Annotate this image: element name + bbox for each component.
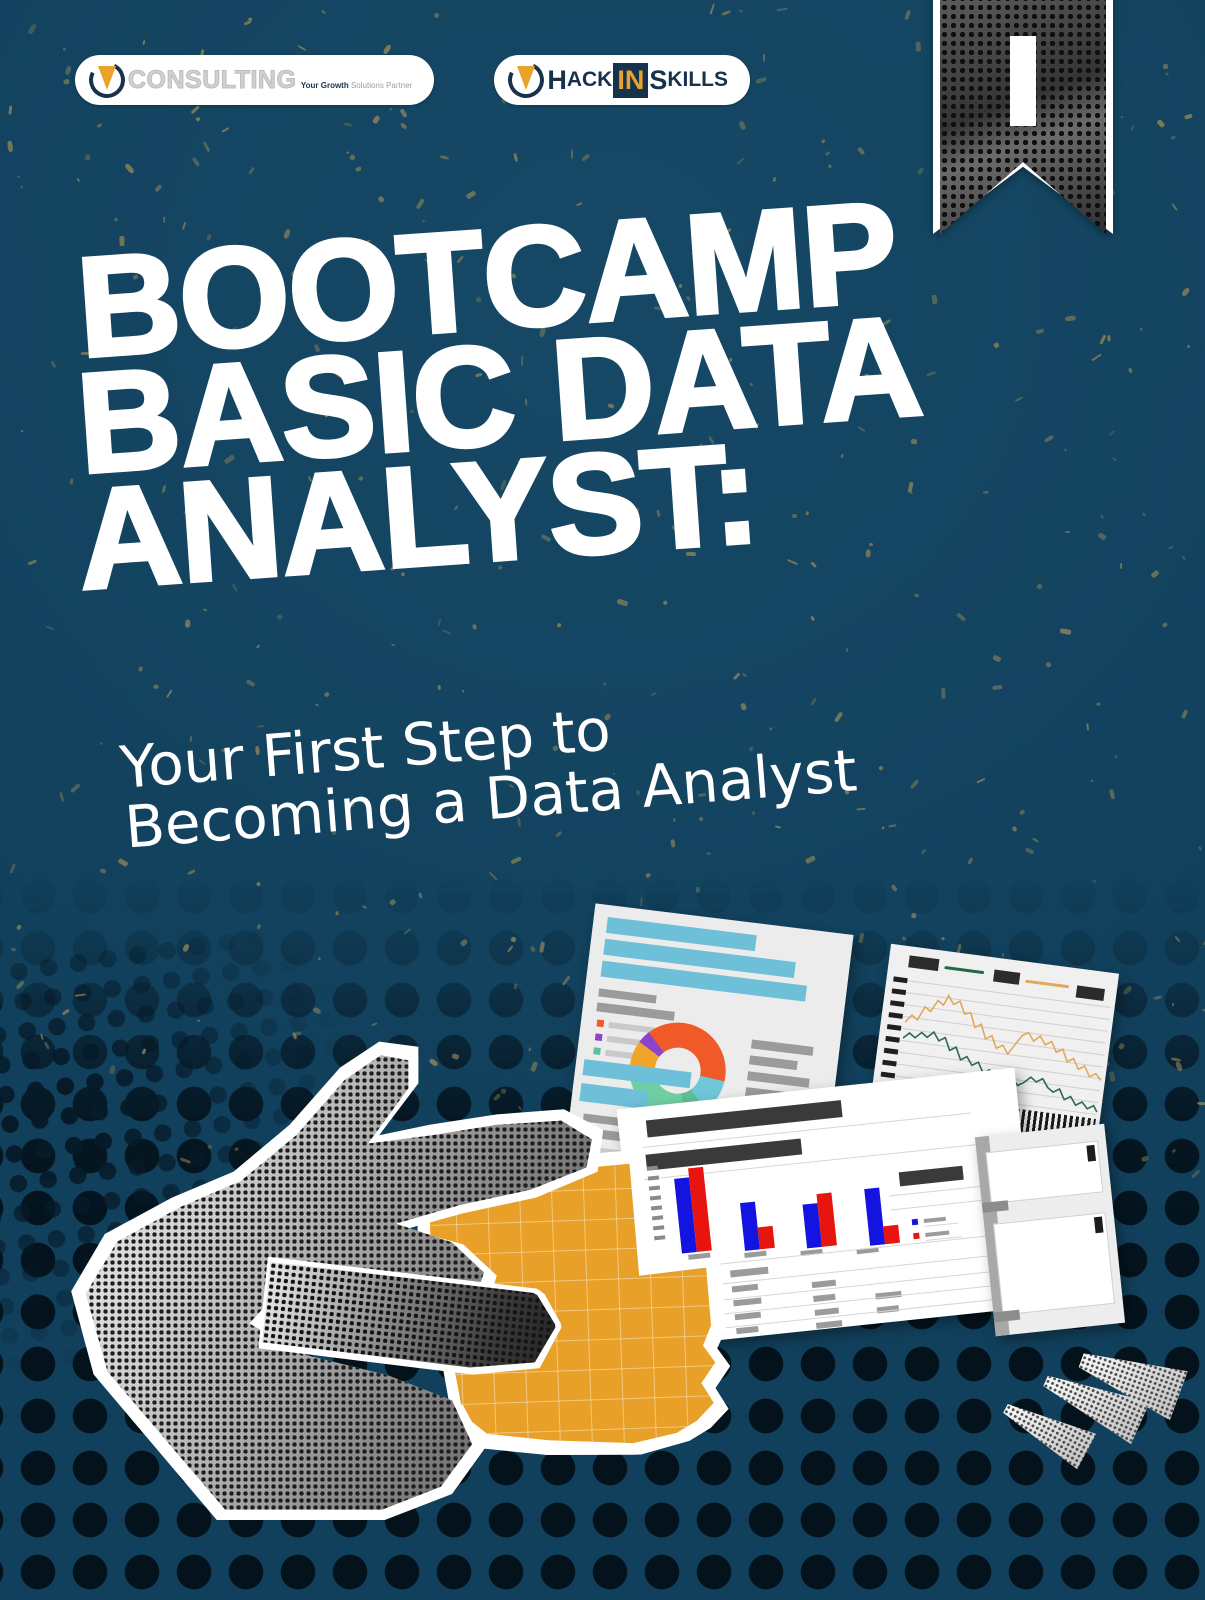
bar-2-blue <box>739 1201 759 1251</box>
v-circle-icon <box>508 62 544 98</box>
vconsulting-wordmark: CONSULTING <box>128 66 296 94</box>
page-title: BOOTCAMP BASIC DATA ANALYST: <box>78 248 923 602</box>
hackinskills-wordmark: HACKINSKILLS <box>547 63 728 98</box>
logo-row: CONSULTING Your Growth Solutions Partner… <box>75 55 750 105</box>
book-cover: CONSULTING Your Growth Solutions Partner… <box>0 0 1205 1600</box>
ribbon-numeral <box>1010 36 1036 126</box>
chart-card-sheet <box>975 1124 1125 1336</box>
bar-4-blue <box>864 1187 885 1245</box>
in-highlight: IN <box>613 63 648 98</box>
bookmark-ribbon-icon <box>933 0 1113 234</box>
bar-4-red <box>883 1225 900 1244</box>
halftone-hand <box>60 1000 620 1520</box>
vconsulting-text: CONSULTING Your Growth Solutions Partner <box>128 68 412 93</box>
logo-hackinskills[interactable]: HACKINSKILLS <box>494 55 750 105</box>
logo-vconsulting[interactable]: CONSULTING Your Growth Solutions Partner <box>75 55 434 105</box>
v-monogram-icon <box>89 62 125 98</box>
vconsulting-tagline: Your Growth Solutions Partner <box>301 81 412 90</box>
bar-2-red <box>757 1226 774 1249</box>
